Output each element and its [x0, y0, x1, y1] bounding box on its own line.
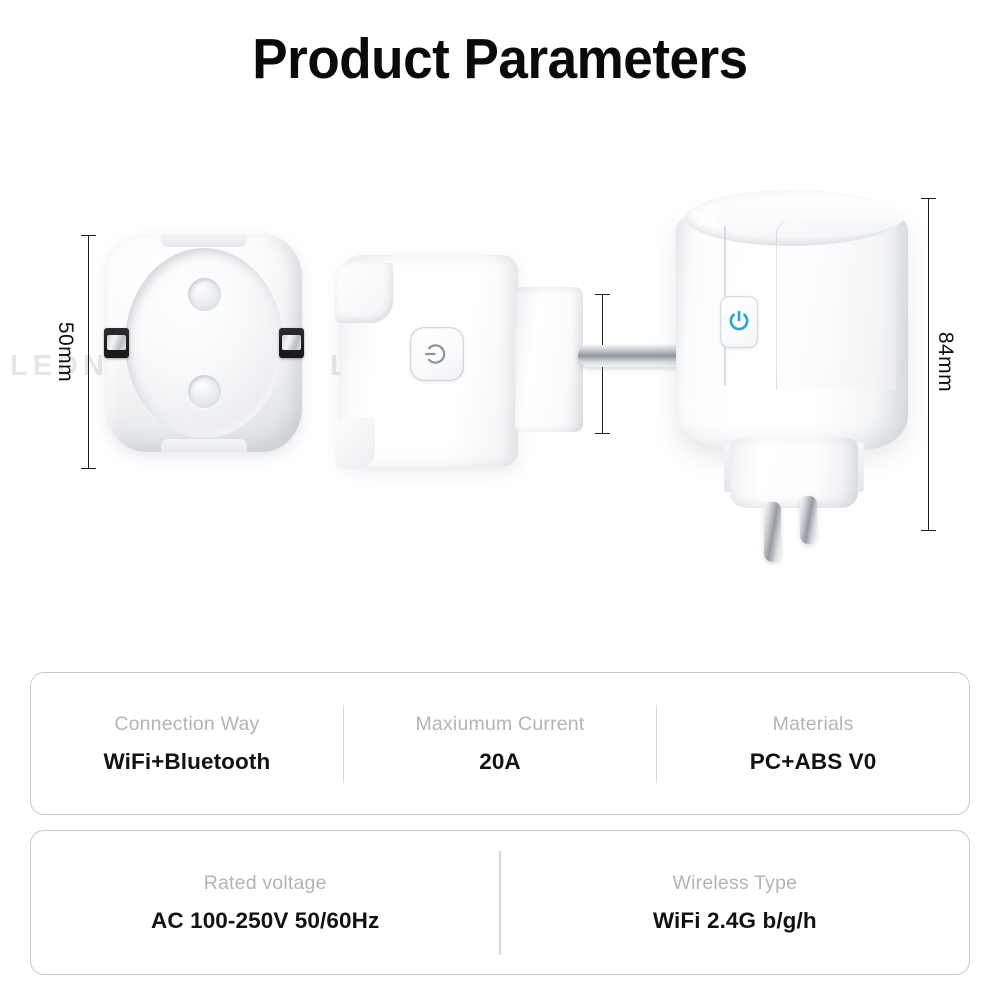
dimension-label-50mm: 50mm	[53, 306, 77, 398]
dimension-line-50mm	[88, 235, 89, 468]
power-icon	[726, 309, 752, 335]
plug-flange-upper	[335, 263, 393, 323]
power-icon	[423, 340, 451, 368]
spec-value: WiFi 2.4G b/g/h	[511, 908, 959, 934]
product-image-stage: LEDNTER LEDNTER LEDNTER 50mm 36mm 84mm	[0, 150, 1000, 650]
dimension-label-84mm: 84mm	[933, 316, 957, 408]
plug-front-panel	[776, 220, 896, 390]
plug-prong-left	[764, 502, 781, 562]
spec-cell-connection-way: Connection Way WiFi+Bluetooth	[31, 713, 343, 775]
spec-cell-maximum-current: Maxiumum Current 20A	[344, 713, 656, 775]
socket-earth-contact-left	[104, 328, 129, 358]
product-perspective-view-image	[668, 190, 918, 590]
spec-label: Rated voltage	[41, 872, 489, 895]
product-side-view-image	[335, 245, 675, 475]
page-title: Product Parameters	[35, 26, 965, 92]
dimension-cap-top-50mm	[81, 235, 96, 236]
spec-value: 20A	[354, 749, 646, 775]
plug-schuko-base	[730, 438, 858, 508]
dimension-cap-bottom-50mm	[81, 468, 96, 469]
spec-value: AC 100-250V 50/60Hz	[41, 908, 489, 934]
spec-cell-materials: Materials PC+ABS V0	[657, 713, 969, 775]
spec-cell-rated-voltage: Rated voltage AC 100-250V 50/60Hz	[31, 872, 499, 934]
product-front-view-image	[106, 234, 302, 452]
socket-recess	[125, 248, 283, 438]
spec-label: Maxiumum Current	[354, 713, 646, 736]
dimension-line-84mm	[928, 198, 929, 530]
power-button-perspective	[720, 296, 758, 348]
plug-prong-right	[800, 496, 817, 544]
dimension-cap-top-84mm	[921, 198, 936, 199]
socket-pin-hole-upper	[188, 278, 221, 311]
socket-notch-bottom	[161, 439, 247, 452]
dimension-cap-bottom-84mm	[921, 530, 936, 531]
socket-notch-top	[161, 234, 247, 247]
plug-neck	[515, 287, 583, 432]
power-button-side	[410, 327, 464, 381]
spec-label: Materials	[667, 713, 959, 736]
spec-value: WiFi+Bluetooth	[41, 749, 333, 775]
spec-table-row-1: Connection Way WiFi+Bluetooth Maxiumum C…	[30, 672, 970, 815]
plug-flange-lower	[335, 417, 375, 469]
socket-earth-contact-right	[279, 328, 304, 358]
socket-pin-hole-lower	[188, 375, 221, 408]
spec-value: PC+ABS V0	[667, 749, 959, 775]
spec-label: Wireless Type	[511, 872, 959, 895]
spec-table-row-2: Rated voltage AC 100-250V 50/60Hz Wirele…	[30, 830, 970, 975]
spec-cell-wireless-type: Wireless Type WiFi 2.4G b/g/h	[501, 872, 969, 934]
spec-label: Connection Way	[41, 713, 333, 736]
